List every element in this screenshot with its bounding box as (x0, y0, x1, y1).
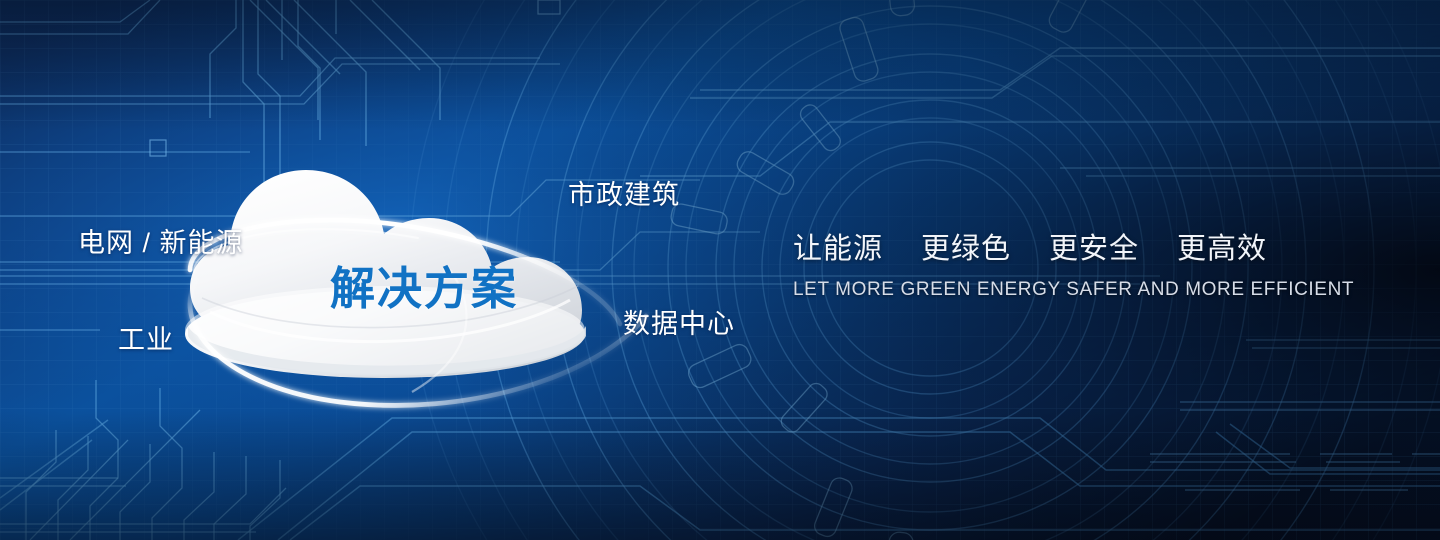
solution-banner: 解决方案 电网 / 新能源 工业 市政建筑 数据中心 让能源 更绿色 更安全 更… (0, 0, 1440, 540)
page-title: 解决方案 (330, 252, 518, 317)
slogan-part-4: 更高效 (1177, 225, 1267, 267)
label-data-center: 数据中心 (623, 302, 735, 341)
slogan-chinese: 让能源 更绿色 更安全 更高效 (793, 225, 1333, 267)
label-industry: 工业 (118, 318, 174, 357)
slogan-part-3: 更安全 (1049, 225, 1139, 267)
slogan-english: LET MORE GREEN ENERGY SAFER AND MORE EFF… (793, 279, 1333, 301)
label-municipal-building: 市政建筑 (568, 173, 680, 212)
slogan-part-1: 让能源 (793, 225, 883, 267)
slogan-part-2: 更绿色 (921, 225, 1011, 267)
label-grid-new-energy: 电网 / 新能源 (78, 221, 244, 260)
slogan-block: 让能源 更绿色 更安全 更高效 LET MORE GREEN ENERGY SA… (793, 225, 1333, 301)
